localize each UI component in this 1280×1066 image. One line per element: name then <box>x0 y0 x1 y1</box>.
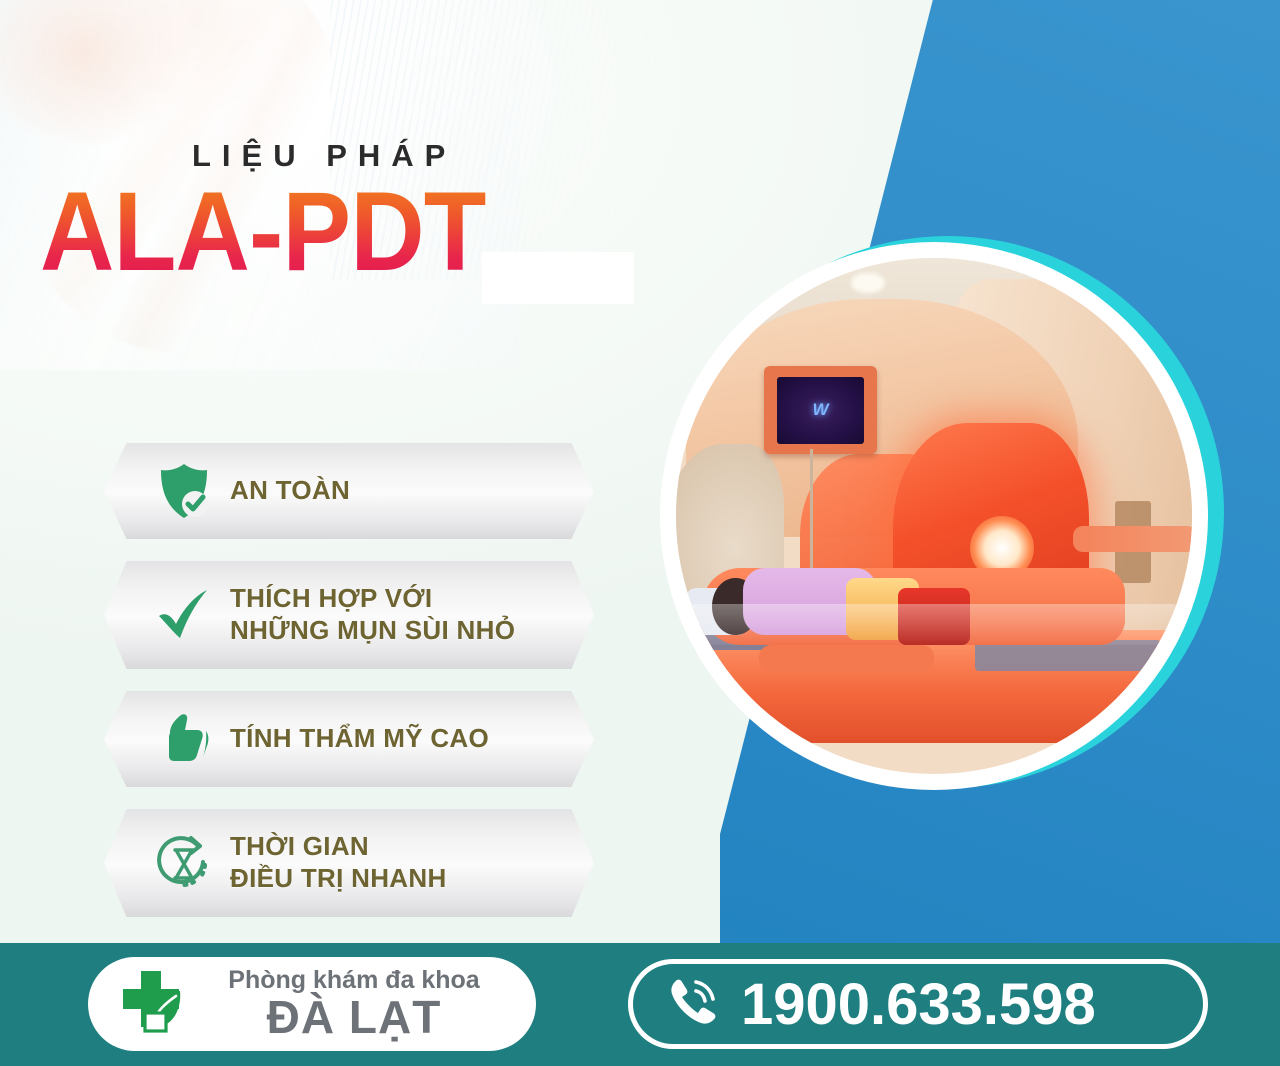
hourglass-time-icon <box>138 832 230 894</box>
kicker-text: LIỆU PHÁP <box>192 140 680 171</box>
footer-bar: Phòng khám đa khoa ĐÀ LẠT 1900.633.598 <box>0 943 1280 1066</box>
photo-monitor: W <box>764 366 878 454</box>
feature-list: AN TOÀN THÍCH HỢP VỚI NHỮNG MỤN SÙI NHỎ <box>104 443 594 939</box>
treatment-photo: W <box>676 258 1192 774</box>
clinic-name: ĐÀ LẠT <box>204 994 504 1041</box>
feature-badge-thoi-gian[interactable]: THỜI GIAN ĐIỀU TRỊ NHANH <box>104 809 594 917</box>
photo-monitor-arm <box>810 449 813 583</box>
cross-leaf-icon <box>114 965 192 1044</box>
phone-call-icon <box>663 972 727 1037</box>
hotline-button[interactable]: 1900.633.598 <box>628 959 1208 1049</box>
photo-arm-nozzle <box>1073 526 1192 552</box>
redaction-box <box>482 252 634 304</box>
thumbs-up-icon <box>138 711 230 767</box>
clinic-badge[interactable]: Phòng khám đa khoa ĐÀ LẠT <box>88 957 536 1051</box>
shield-check-icon <box>138 462 230 520</box>
feature-label: TÍNH THẨM MỸ CAO <box>230 723 489 755</box>
poster-root: LIỆU PHÁP ALA-PDT AN TOÀN <box>0 0 1280 1066</box>
photo-patient-arm <box>759 645 934 671</box>
feature-badge-an-toan[interactable]: AN TOÀN <box>104 443 594 539</box>
feature-label: THÍCH HỢP VỚI NHỮNG MỤN SÙI NHỎ <box>230 583 515 646</box>
page-title: ALA-PDT <box>40 179 486 285</box>
hotline-number: 1900.633.598 <box>741 971 1096 1038</box>
check-mark-icon <box>138 588 230 642</box>
clinic-subtitle: Phòng khám đa khoa <box>204 967 504 993</box>
feature-label: THỜI GIAN ĐIỀU TRỊ NHANH <box>230 831 447 894</box>
feature-badge-tham-my[interactable]: TÍNH THẨM MỸ CAO <box>104 691 594 787</box>
photo-monitor-logo: W <box>812 400 828 420</box>
photo-table-pad <box>686 604 1181 645</box>
photo-monitor-screen: W <box>777 377 863 444</box>
feature-label: AN TOÀN <box>230 475 350 507</box>
clinic-text: Phòng khám đa khoa ĐÀ LẠT <box>204 967 504 1040</box>
feature-badge-thich-hop[interactable]: THÍCH HỢP VỚI NHỮNG MỤN SÙI NHỎ <box>104 561 594 669</box>
